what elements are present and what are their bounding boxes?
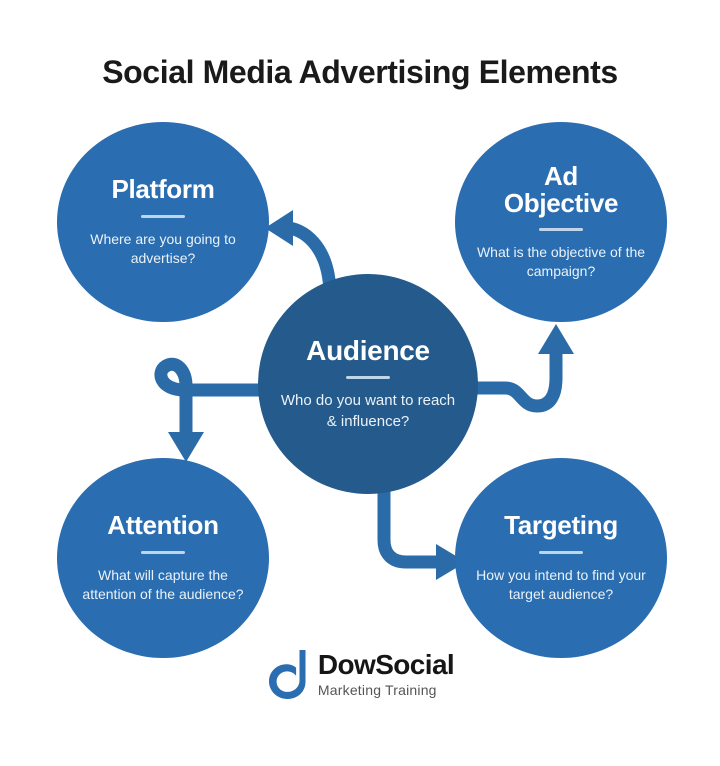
connector-audience-to-attention — [161, 364, 271, 462]
node-ad-objective-divider — [539, 228, 583, 231]
node-platform-description: Where are you going to advertise? — [75, 230, 251, 268]
node-ad-objective-title-line2: Objective — [504, 190, 618, 217]
infographic-canvas: Social Media Advertising Elements Platfo… — [0, 0, 720, 766]
dowsocial-d-icon — [266, 648, 308, 700]
node-platform-title: Platform — [111, 176, 214, 203]
node-audience[interactable]: Audience Who do you want to reach & infl… — [258, 274, 478, 494]
node-attention[interactable]: Attention What will capture the attentio… — [57, 458, 269, 658]
logo-tagline: Marketing Training — [318, 683, 437, 697]
node-audience-title: Audience — [306, 336, 430, 365]
node-audience-divider — [346, 376, 390, 379]
node-targeting-description: How you intend to find your target audie… — [473, 566, 649, 604]
node-ad-objective[interactable]: Ad Objective What is the objective of th… — [455, 122, 667, 322]
node-ad-objective-title-line1: Ad — [504, 163, 618, 190]
connector-audience-to-ad-objective — [468, 324, 574, 406]
logo-text-block: DowSocial Marketing Training — [318, 651, 454, 697]
node-attention-description: What will capture the attention of the a… — [75, 566, 251, 604]
node-attention-title: Attention — [107, 512, 218, 539]
logo-name: DowSocial — [318, 651, 454, 679]
node-platform[interactable]: Platform Where are you going to advertis… — [57, 122, 269, 322]
node-targeting-divider — [539, 551, 583, 554]
brand-logo: DowSocial Marketing Training — [0, 648, 720, 700]
node-audience-description: Who do you want to reach & influence? — [276, 391, 460, 432]
connector-audience-to-platform — [265, 210, 330, 296]
node-ad-objective-title: Ad Objective — [504, 163, 618, 218]
node-platform-divider — [141, 215, 185, 218]
node-targeting-title: Targeting — [504, 512, 618, 539]
node-attention-divider — [141, 551, 185, 554]
node-targeting[interactable]: Targeting How you intend to find your ta… — [455, 458, 667, 658]
node-ad-objective-description: What is the objective of the campaign? — [473, 243, 649, 281]
